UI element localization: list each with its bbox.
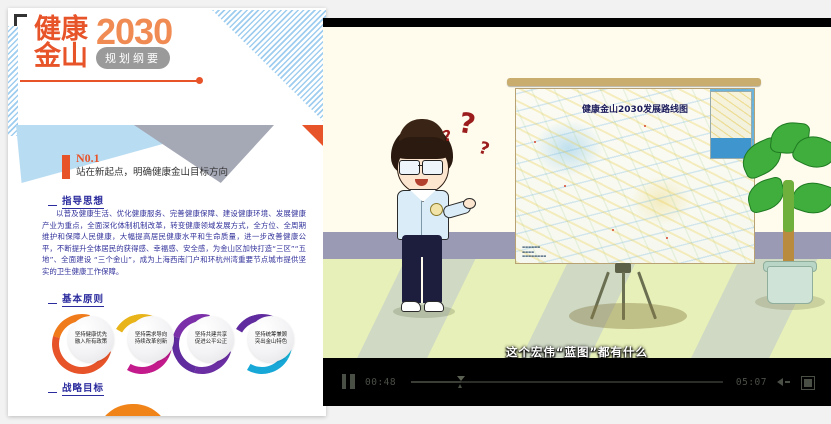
character-shoe-left bbox=[401, 301, 421, 312]
principle-bubble-3: 坚持共建共享 促进公平公正 bbox=[188, 316, 234, 362]
principle-4-line1: 坚持统筹兼顾 bbox=[255, 332, 287, 339]
map-board-rail bbox=[507, 78, 761, 86]
glasses-bridge bbox=[418, 165, 423, 166]
volume-icon[interactable] bbox=[777, 376, 791, 388]
heading-tick-3 bbox=[48, 392, 57, 393]
shirt-placket bbox=[421, 199, 422, 237]
character-hand bbox=[463, 198, 476, 209]
glasses-lens-left bbox=[399, 160, 420, 175]
plant-stem bbox=[783, 180, 794, 232]
route-map: 健康金山2030发展路线图 ▬▬▬▬▬▬▬▬▬▬▬▬▬▬▬▬▬▬ bbox=[515, 88, 755, 264]
pause-icon[interactable] bbox=[342, 374, 355, 389]
progress-bar[interactable] bbox=[411, 381, 723, 383]
principle-4-line2: 突出金山特色 bbox=[255, 339, 287, 346]
scrubber-up-marker bbox=[457, 376, 465, 381]
video-frame[interactable]: ? ? ? 健康金山2030发展路线图 bbox=[323, 27, 831, 358]
logo-year: 2030 bbox=[96, 14, 172, 50]
progress-scrubber-handle[interactable] bbox=[457, 376, 465, 388]
heading-basic-principles: 基本原则 bbox=[62, 291, 104, 307]
potted-plant bbox=[743, 124, 829, 324]
infographic-document-panel: 健康 金山 2030 规划纲要 N0.1 站在新起点，明确健康金山目标方向 指导… bbox=[8, 8, 326, 416]
principle-bubble-4: 坚持统筹兼顾 突出金山特色 bbox=[248, 316, 294, 362]
duration-label: 05:07 bbox=[736, 377, 767, 388]
principle-3-line1: 坚持共建共享 bbox=[195, 332, 227, 339]
current-time-label: 00:48 bbox=[365, 377, 396, 388]
heading-guiding-thought: 指导思想 bbox=[62, 193, 104, 209]
scrubber-down-marker bbox=[458, 384, 462, 388]
map-title: 健康金山2030发展路线图 bbox=[516, 102, 754, 115]
glasses-lens-right bbox=[422, 160, 443, 175]
logo-line2: 金山 bbox=[34, 43, 88, 70]
heading-tick-2 bbox=[48, 303, 57, 304]
tripod-shadow bbox=[569, 303, 687, 329]
video-player[interactable]: ? ? ? 健康金山2030发展路线图 bbox=[323, 18, 831, 406]
principle-bubble-1: 坚持健康优先 融入所有政策 bbox=[68, 316, 114, 362]
heading-tick-1 bbox=[48, 205, 57, 206]
section-accent-bar bbox=[62, 155, 70, 179]
diagonal-stripe-edge-decoration bbox=[8, 26, 18, 136]
screen-root: 健康 金山 2030 规划纲要 N0.1 站在新起点，明确健康金山目标方向 指导… bbox=[0, 0, 831, 424]
logo-badge: 规划纲要 bbox=[96, 47, 170, 69]
letterbox-top bbox=[323, 18, 831, 27]
logo: 健康 金山 2030 规划纲要 bbox=[34, 14, 234, 76]
character-bangs bbox=[394, 137, 450, 159]
heading-strategic-goals: 战略目标 bbox=[62, 380, 104, 396]
principle-3-line2: 促进公平公正 bbox=[195, 339, 227, 346]
logo-underline-dot bbox=[196, 77, 203, 84]
principle-bubble-2: 坚持需求导向 持续改革创新 bbox=[128, 316, 174, 362]
progress-played bbox=[411, 381, 461, 383]
plant-leaf bbox=[744, 175, 789, 214]
principle-2-line2: 持续改革创新 bbox=[135, 339, 167, 346]
video-controls-bar[interactable]: 00:48 05:07 bbox=[323, 358, 831, 406]
plant-leaf bbox=[789, 177, 831, 220]
principles-arc-diagram: 坚持健康优先 融入所有政策 坚持需求导向 持续改革创新 坚持共建共享 促进公平公… bbox=[30, 308, 320, 370]
plant-pot bbox=[767, 266, 813, 304]
section-subtitle: 站在新起点，明确健康金山目标方向 bbox=[76, 164, 228, 178]
map-legend: ▬▬▬▬▬▬▬▬▬▬▬▬▬▬▬▬▬▬ bbox=[522, 245, 546, 259]
logo-line1: 健康 bbox=[34, 16, 88, 43]
body-paragraph: 以普及健康生活、优化健康服务、完善健康保障、建设健康环境、发展健康产业为重点，全… bbox=[42, 208, 306, 278]
character-leg-gap bbox=[421, 257, 423, 303]
fullscreen-icon[interactable] bbox=[801, 376, 815, 390]
character-shoe-right bbox=[424, 301, 444, 312]
principle-1-line1: 坚持健康优先 bbox=[75, 332, 107, 339]
goal-year-marker: 2020年 bbox=[96, 404, 170, 416]
cartoon-character: ? ? ? bbox=[375, 111, 471, 327]
map-board: 健康金山2030发展路线图 ▬▬▬▬▬▬▬▬▬▬▬▬▬▬▬▬▬▬ bbox=[513, 78, 755, 270]
logo-underline bbox=[20, 80, 198, 82]
principle-1-line2: 融入所有政策 bbox=[75, 339, 107, 346]
shirt-badge-icon bbox=[430, 203, 443, 216]
principle-2-line1: 坚持需求导向 bbox=[135, 332, 167, 339]
